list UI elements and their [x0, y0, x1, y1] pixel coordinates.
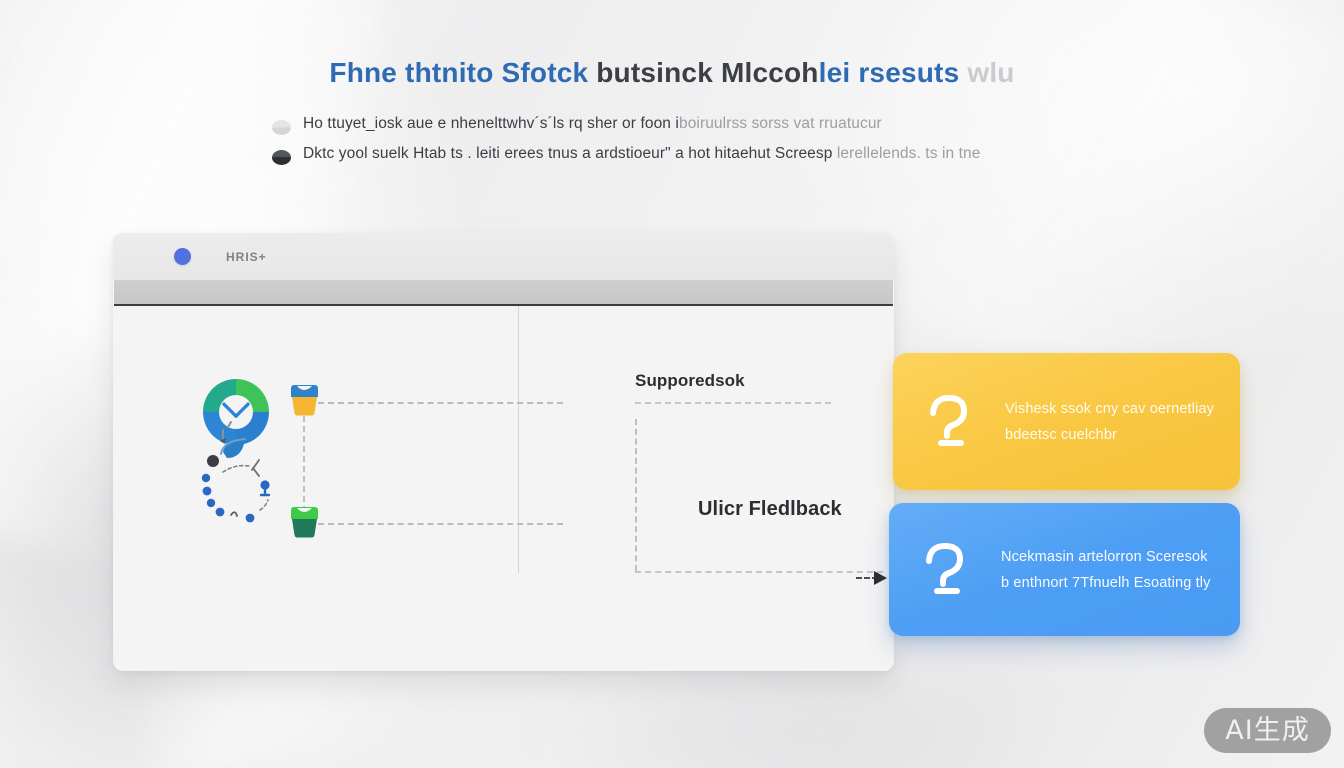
list-item-text: Dktc yool suelk Htab ts . leiti erees tn… — [303, 145, 832, 162]
yellow-card-line-1: Vishesk ssok cny cav oernetliay — [1005, 400, 1214, 418]
panel-body: Supporedsok Ulicr Fledlback — [113, 306, 894, 671]
list-item: Ho ttuyet_iosk aue e nhenelttwhv´s´ls rq… — [272, 114, 1112, 144]
connector-dashed-top — [318, 402, 563, 404]
blue-card[interactable]: Ncekmasin artelorron Sceresok b enthnort… — [889, 503, 1240, 636]
ai-generated-watermark: AI生成 — [1204, 708, 1331, 753]
list-item: Dktc yool suelk Htab ts . leiti erees tn… — [272, 144, 1112, 174]
feedback-label: Ulicr Fledlback — [698, 498, 842, 521]
panel-tab-label[interactable]: HRIS+ — [226, 250, 267, 264]
bullet-dot-light-icon — [272, 120, 291, 135]
support-underline — [635, 402, 831, 404]
cluster-dot-dark — [207, 455, 219, 467]
bucket-green-svg — [291, 505, 318, 539]
column-divider — [518, 306, 519, 573]
bucket-yellow-icon — [291, 383, 318, 417]
yellow-card[interactable]: Vishesk ssok cny cav oernetliay bdeetsc … — [893, 353, 1240, 490]
page-title-segment-c: lei rsesuts — [819, 57, 960, 88]
support-label: Supporedsok — [635, 371, 745, 391]
page-title-segment-b: butsinck Mlccoh — [596, 57, 818, 88]
feedback-underline — [635, 571, 883, 573]
list-item-label: Ho ttuyet_iosk aue e nhenelttwhv´s´ls rq… — [303, 114, 882, 134]
scatter-cluster — [193, 414, 303, 526]
bucket-green-icon — [291, 505, 318, 539]
scatter-cluster-svg — [193, 414, 303, 526]
page-title: Fhne thtnito Sfotck butsinck Mlccohlei r… — [0, 58, 1344, 89]
question-mark-svg — [921, 391, 979, 453]
connector-dashed-vertical — [303, 416, 305, 512]
panel-toolbar[interactable] — [114, 280, 893, 306]
yellow-card-line-2: bdeetsc cuelchbr — [1005, 426, 1214, 444]
connector-arrowhead-icon — [874, 571, 887, 585]
panel-titlebar: HRIS+ — [113, 233, 894, 280]
panel-status-dot-icon[interactable] — [174, 248, 191, 265]
connector-dashed-bottom — [318, 523, 563, 525]
bullet-list: Ho ttuyet_iosk aue e nhenelttwhv´s´ls rq… — [272, 114, 1112, 174]
slide-canvas: Fhne thtnito Sfotck butsinck Mlccohlei r… — [0, 0, 1344, 768]
list-item-label: Dktc yool suelk Htab ts . leiti erees tn… — [303, 144, 981, 164]
list-item-text: Ho ttuyet_iosk aue e nhenelttwhv´s´ls rq… — [303, 115, 679, 132]
right-column-vertical-dash — [635, 419, 637, 571]
question-mark-svg — [917, 539, 975, 601]
page-title-segment-tail: wlu — [959, 57, 1014, 88]
list-item-text-faded: lerellelends. ts in tne — [832, 145, 980, 162]
main-panel: HRIS+ — [113, 233, 894, 671]
question-mark-icon — [921, 391, 979, 453]
bucket-yellow-svg — [291, 383, 318, 417]
blue-card-text: Ncekmasin artelorron Sceresok b enthnort… — [1001, 548, 1211, 592]
page-title-segment-a: Fhne thtnito Sfotck — [329, 57, 596, 88]
yellow-card-text: Vishesk ssok cny cav oernetliay bdeetsc … — [1005, 400, 1214, 444]
list-item-text-faded: boiruulrss sorss vat rruatucur — [679, 115, 882, 132]
blue-card-line-1: Ncekmasin artelorron Sceresok — [1001, 548, 1211, 566]
question-mark-icon — [917, 539, 975, 601]
blue-card-line-2: b enthnort 7Tfnuelh Esoating tly — [1001, 574, 1211, 592]
bullet-dot-dark-icon — [272, 150, 291, 165]
